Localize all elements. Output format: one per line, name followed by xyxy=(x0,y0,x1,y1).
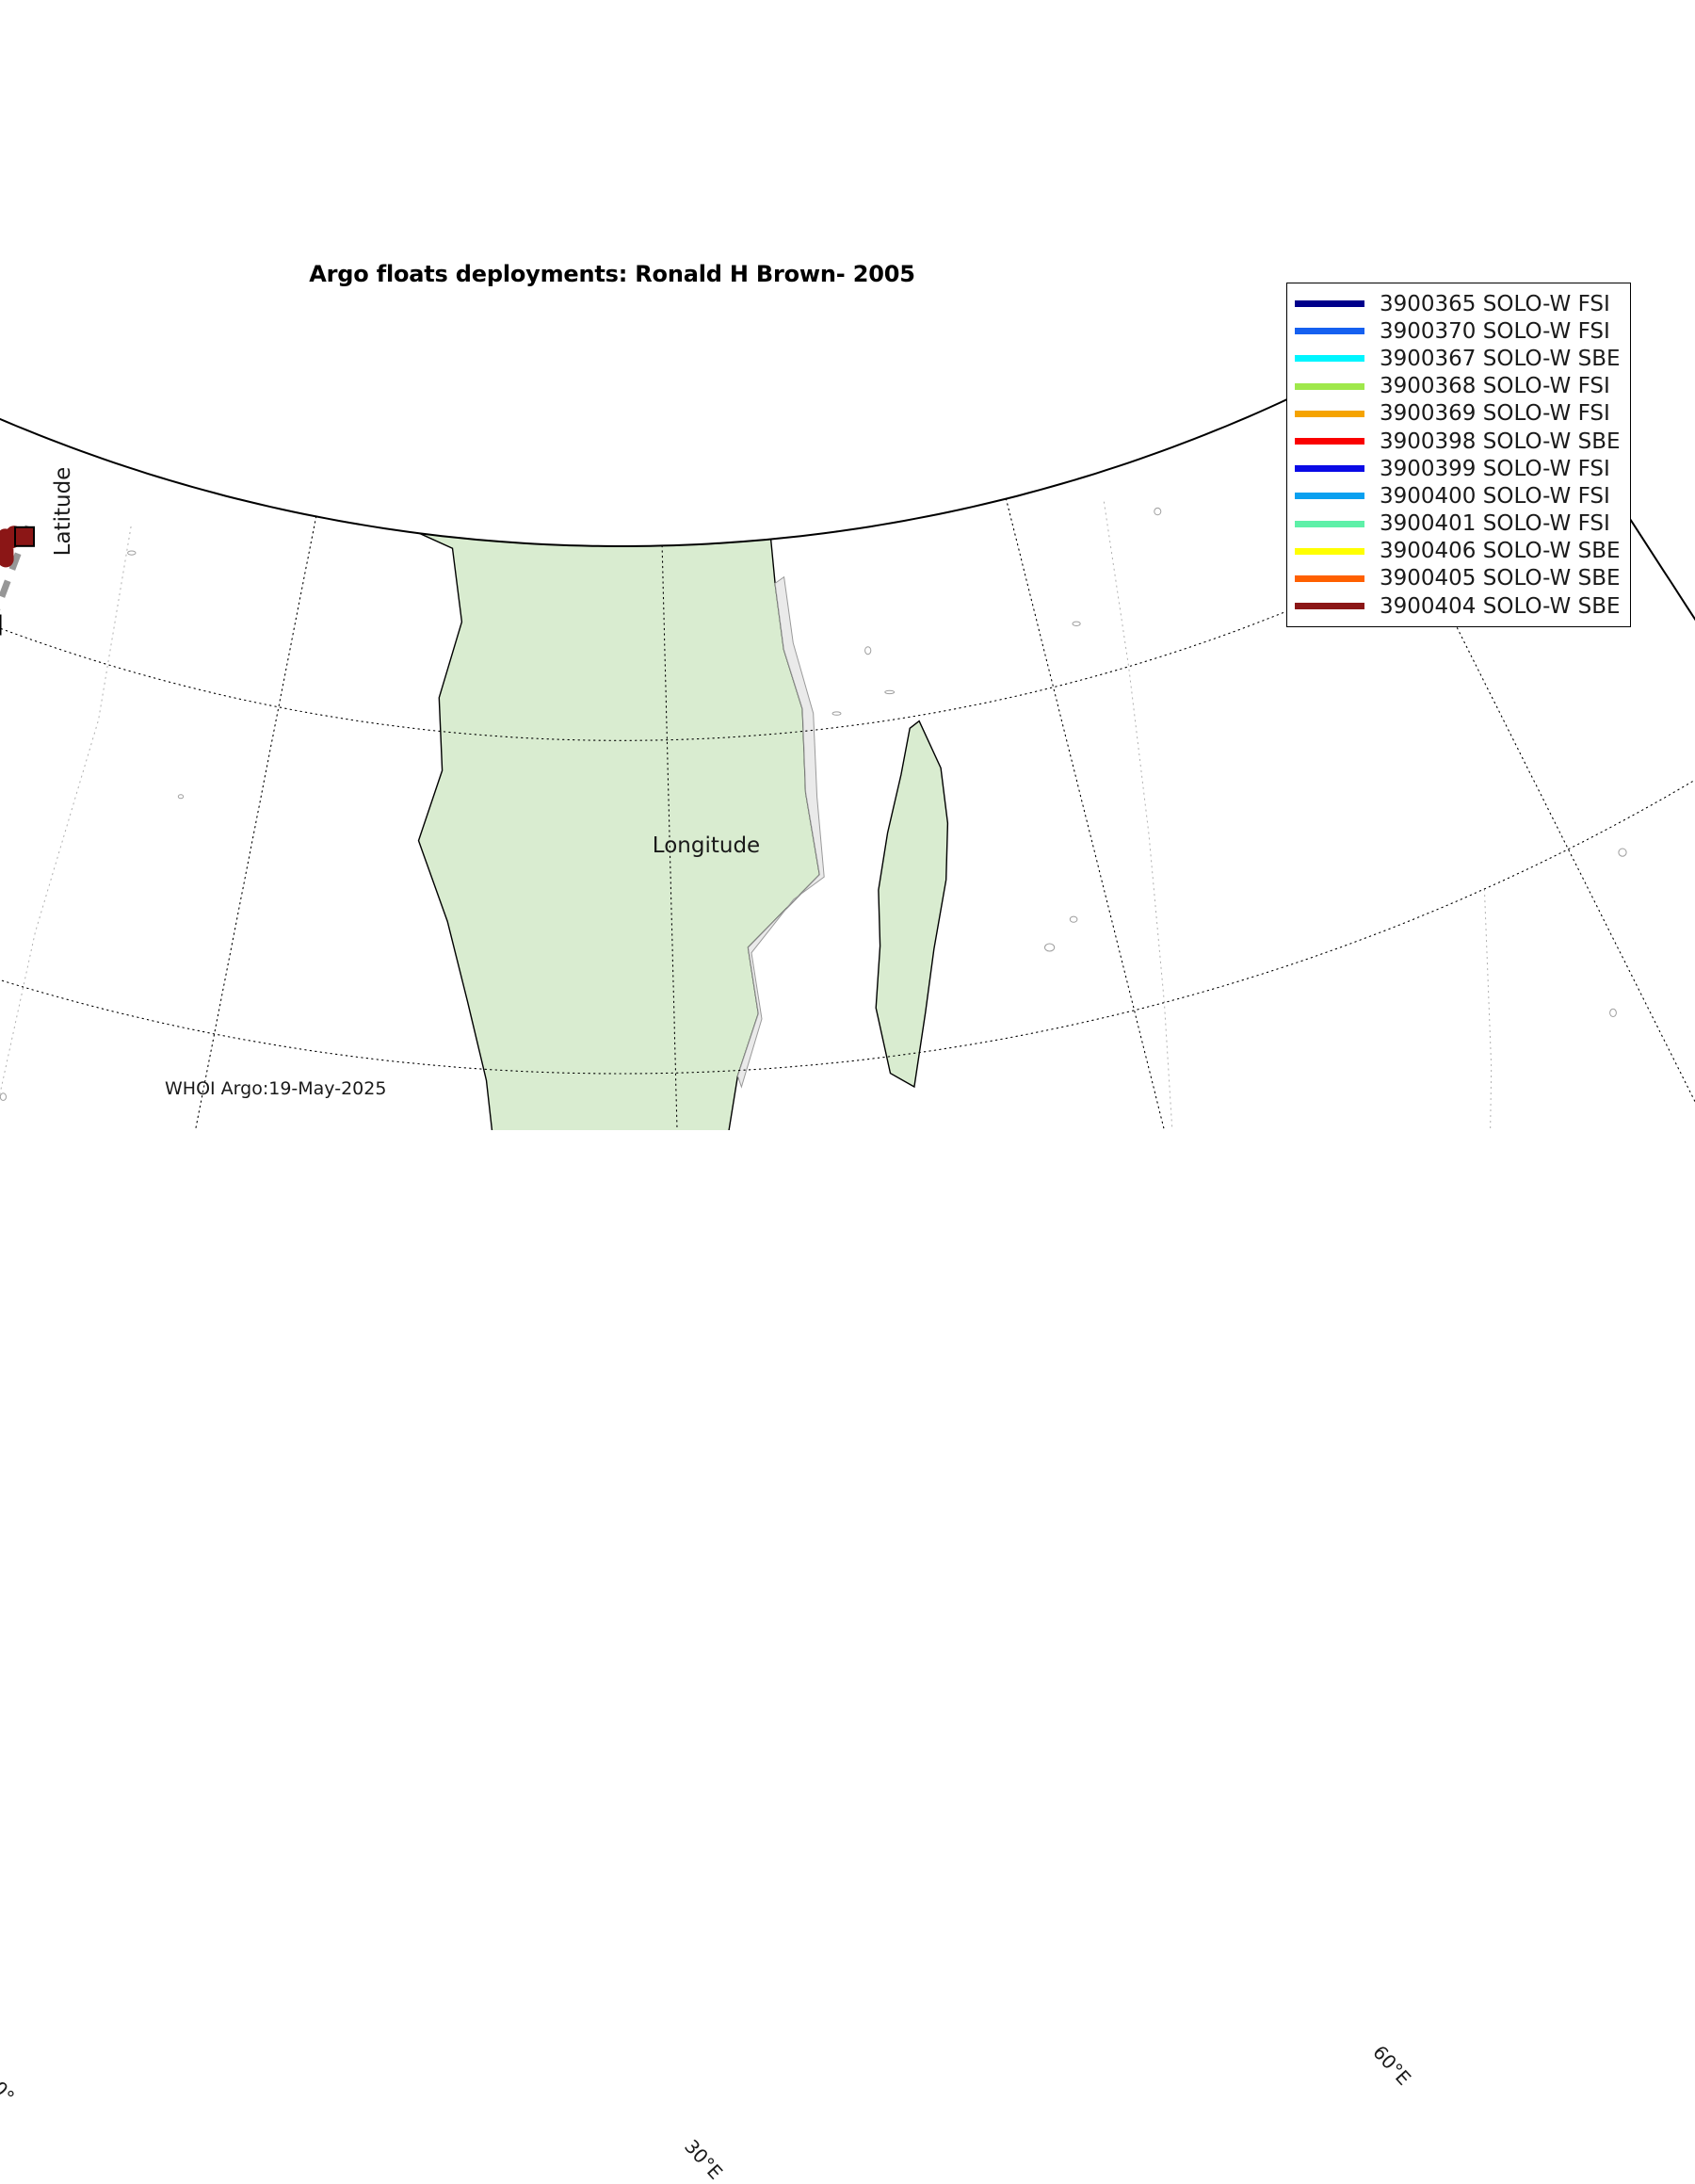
x-axis-label: Longitude xyxy=(565,833,847,858)
legend-item-3900367[interactable]: 3900367 SOLO-W SBE xyxy=(1295,345,1621,372)
deployment-marker[interactable] xyxy=(15,527,34,546)
legend-item-label: 3900406 SOLO-W SBE xyxy=(1380,539,1621,563)
legend-color-swatch xyxy=(1295,438,1364,445)
legend-box[interactable]: 3900365 SOLO-W FSI3900370 SOLO-W FSI3900… xyxy=(1286,283,1631,627)
legend-item-3900398[interactable]: 3900398 SOLO-W SBE xyxy=(1295,428,1621,455)
legend-color-swatch xyxy=(1295,603,1364,609)
deployment-marker[interactable] xyxy=(0,616,1,635)
legend-item-label: 3900369 SOLO-W FSI xyxy=(1380,401,1610,426)
legend-color-swatch xyxy=(1295,383,1364,390)
legend-item-label: 3900398 SOLO-W SBE xyxy=(1380,429,1621,454)
legend-item-3900365[interactable]: 3900365 SOLO-W FSI xyxy=(1295,290,1621,317)
page-title: Argo floats deployments: Ronald H Brown-… xyxy=(0,261,1224,287)
legend-color-swatch xyxy=(1295,411,1364,417)
figure-canvas: Argo floats deployments: Ronald H Brown-… xyxy=(0,0,1695,1130)
legend-color-swatch xyxy=(1295,548,1364,555)
legend-item-3900370[interactable]: 3900370 SOLO-W FSI xyxy=(1295,317,1621,345)
legend-item-label: 3900368 SOLO-W FSI xyxy=(1380,374,1610,398)
legend-item-label: 3900365 SOLO-W FSI xyxy=(1380,292,1610,316)
legend-color-swatch xyxy=(1295,328,1364,334)
lon-tick-0°: 0° xyxy=(0,2077,20,2108)
legend-color-swatch xyxy=(1295,300,1364,307)
legend-item-3900405[interactable]: 3900405 SOLO-W SBE xyxy=(1295,565,1621,592)
legend-item-label: 3900405 SOLO-W SBE xyxy=(1380,566,1621,590)
legend-item-3900399[interactable]: 3900399 SOLO-W FSI xyxy=(1295,455,1621,482)
legend-color-swatch xyxy=(1295,355,1364,362)
legend-item-3900368[interactable]: 3900368 SOLO-W FSI xyxy=(1295,373,1621,400)
y-axis-label: Latitude xyxy=(51,417,75,606)
legend-item-3900400[interactable]: 3900400 SOLO-W FSI xyxy=(1295,482,1621,510)
lon-tick-60°E: 60°E xyxy=(1368,2041,1415,2090)
legend-color-swatch xyxy=(1295,521,1364,527)
legend-item-3900406[interactable]: 3900406 SOLO-W SBE xyxy=(1295,538,1621,565)
legend-color-swatch xyxy=(1295,575,1364,582)
legend-item-3900401[interactable]: 3900401 SOLO-W FSI xyxy=(1295,510,1621,538)
legend-item-3900369[interactable]: 3900369 SOLO-W FSI xyxy=(1295,400,1621,428)
legend-item-label: 3900404 SOLO-W SBE xyxy=(1380,594,1621,619)
legend-item-3900404[interactable]: 3900404 SOLO-W SBE xyxy=(1295,592,1621,620)
legend-item-label: 3900367 SOLO-W SBE xyxy=(1380,347,1621,371)
legend-color-swatch xyxy=(1295,465,1364,472)
legend-item-label: 3900401 SOLO-W FSI xyxy=(1380,511,1610,536)
legend-color-swatch xyxy=(1295,493,1364,499)
lon-tick-30°E: 30°E xyxy=(680,2135,727,2184)
legend-item-label: 3900400 SOLO-W FSI xyxy=(1380,484,1610,509)
footer-credit: WHOI Argo:19-May-2025 xyxy=(165,1078,386,1099)
legend-item-label: 3900370 SOLO-W FSI xyxy=(1380,319,1610,344)
legend-item-label: 3900399 SOLO-W FSI xyxy=(1380,457,1610,481)
